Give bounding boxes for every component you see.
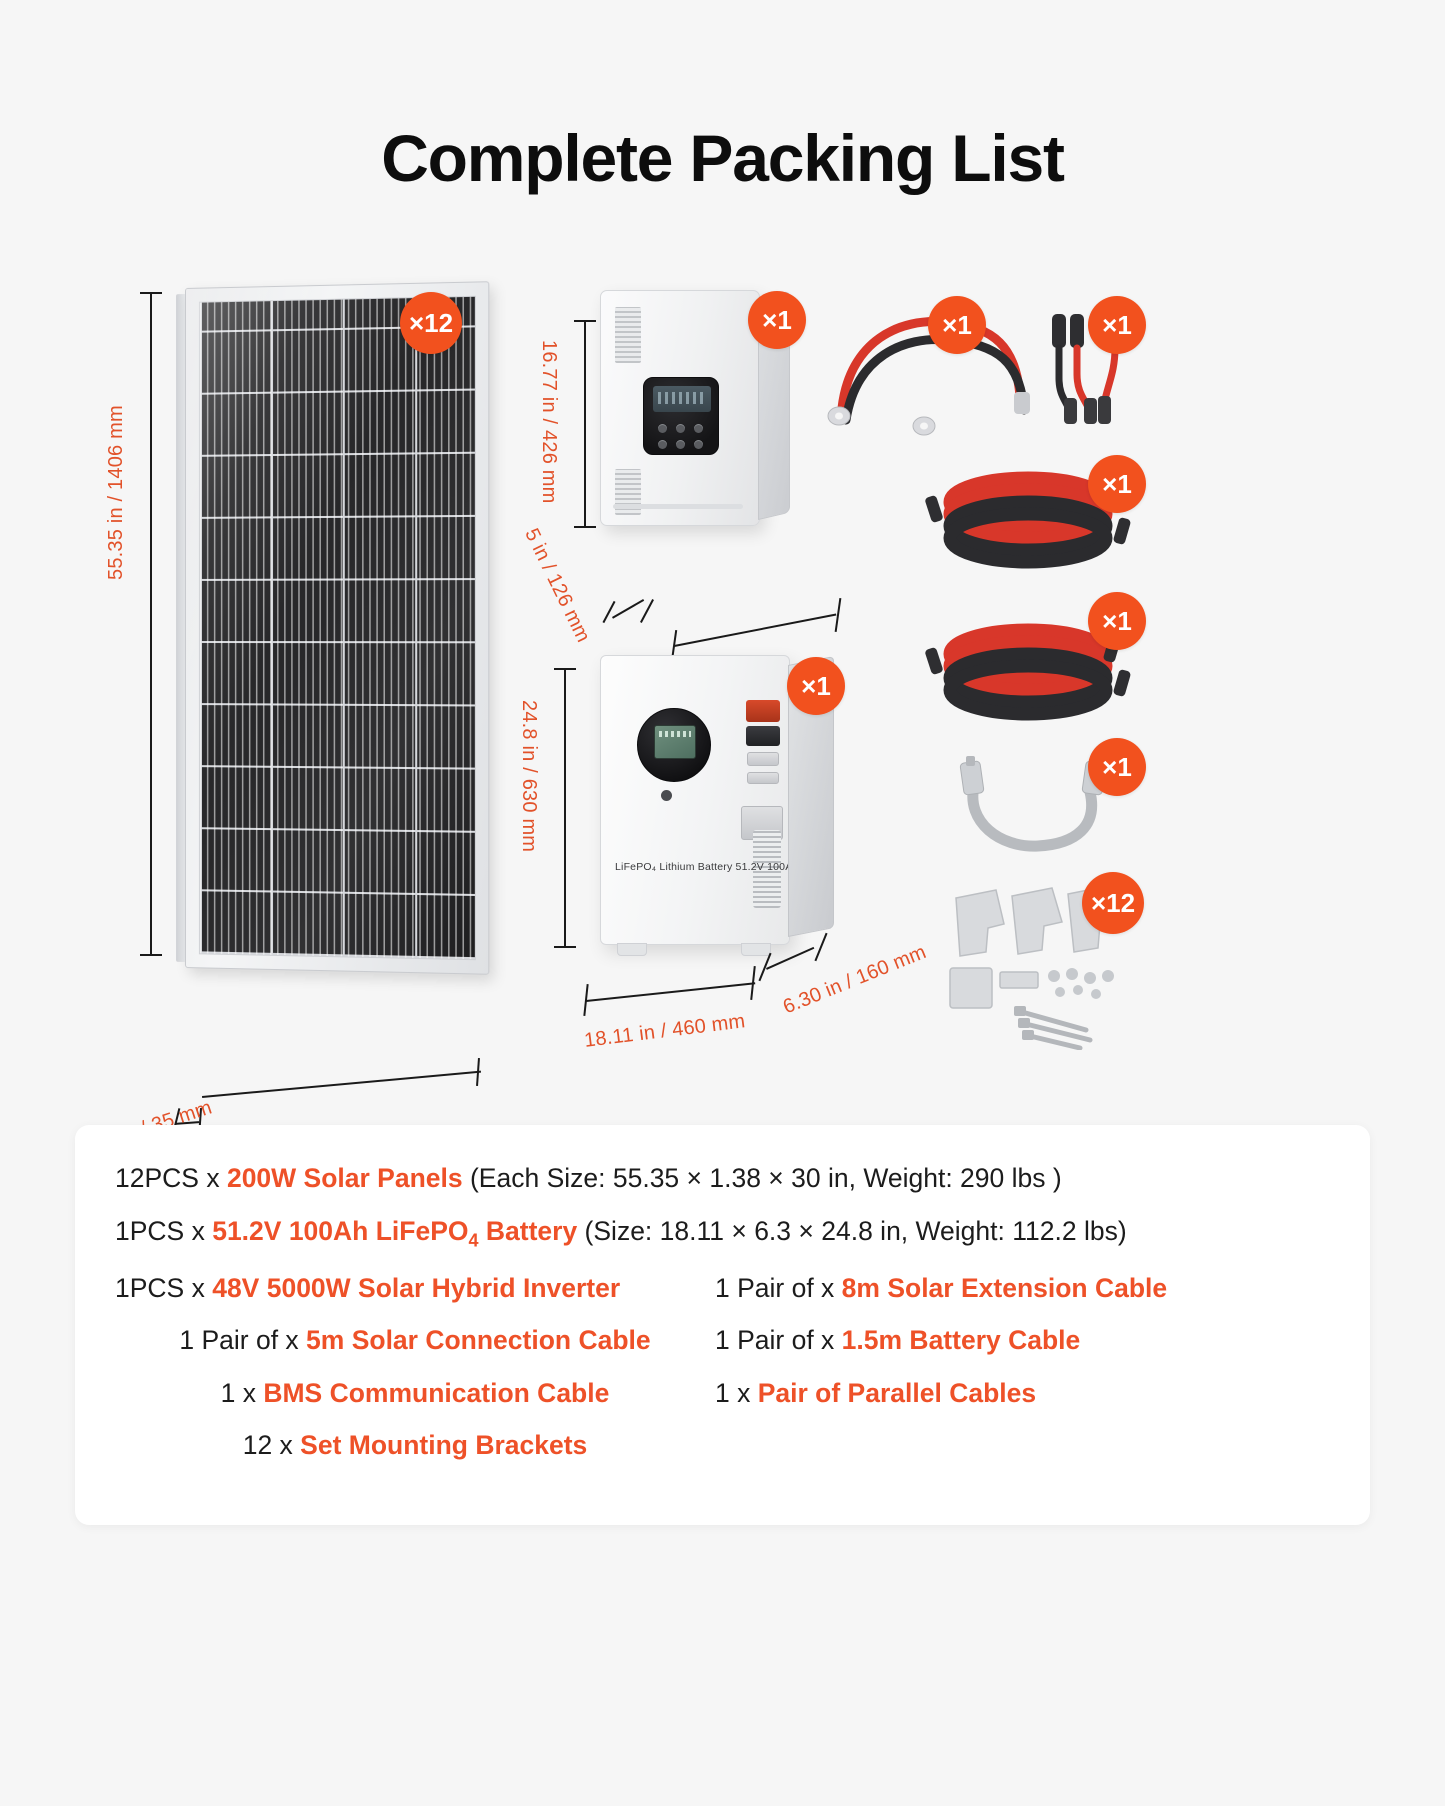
battery-cable-qty: 1 Pair of x <box>715 1325 842 1355</box>
battery-port-a <box>747 752 779 766</box>
panel-height-tick-bottom <box>140 954 162 956</box>
connection-cable-qty: 1 Pair of x <box>179 1325 306 1355</box>
inverter-height-tick-bottom <box>574 526 596 528</box>
badge-solar-panel: ×12 <box>400 292 462 354</box>
inverter-depth-dim-line <box>612 599 644 619</box>
battery-terminal-positive <box>746 700 780 722</box>
list-item-mounting-brackets: 12 x Set Mounting Brackets <box>115 1432 715 1459</box>
solar-panel-image <box>185 281 489 975</box>
inverter-height-tick-top <box>574 320 596 322</box>
list-item-parallel-cables: 1 x Pair of Parallel Cables <box>715 1380 1340 1407</box>
list-row-3: 1PCS x 48V 5000W Solar Hybrid Inverter 1… <box>115 1275 1340 1302</box>
battery-height-tick-bottom <box>554 946 576 948</box>
badge-extension-cable: ×1 <box>1088 455 1146 513</box>
list-item-connection-cable: 1 Pair of x 5m Solar Connection Cable <box>115 1327 715 1354</box>
inverter-name: 48V 5000W Solar Hybrid Inverter <box>212 1273 620 1303</box>
battery-name-a: 51.2V 100Ah LiFePO <box>212 1216 468 1246</box>
inverter-base-strip <box>613 504 743 509</box>
list-row-5: 1 x BMS Communication Cable 1 x Pair of … <box>115 1380 1340 1407</box>
battery-name-b: Battery <box>479 1216 578 1246</box>
panel-width-dim-line <box>202 1071 481 1098</box>
inverter-button-2 <box>676 424 685 433</box>
solar-panels-name: 200W Solar Panels <box>227 1163 463 1193</box>
badge-bms-cable: ×1 <box>1088 738 1146 796</box>
list-item-battery: 1PCS x 51.2V 100Ah LiFePO4 Battery (Size… <box>115 1218 1340 1249</box>
panel-height-tick-top <box>140 292 162 294</box>
battery-display <box>637 708 711 782</box>
solar-panel-cells <box>199 296 476 960</box>
battery-body: LiFePO₄ Lithium Battery 51.2V 100Ah <box>600 655 790 945</box>
extension-cable-name: 8m Solar Extension Cable <box>842 1273 1167 1303</box>
battery-name-sub: 4 <box>468 1230 478 1250</box>
list-item-bms-cable: 1 x BMS Communication Cable <box>115 1380 715 1407</box>
inverter-button-1 <box>658 424 667 433</box>
battery-width-label: 18.11 in / 460 mm <box>583 1010 747 1053</box>
battery-leg-left <box>617 943 647 956</box>
inverter-display <box>643 377 719 455</box>
packing-list-page: Complete Packing List ×12 55.35 in / 140… <box>0 0 1445 1806</box>
solar-panels-spec: (Each Size: 55.35 × 1.38 × 30 in, Weight… <box>463 1163 1062 1193</box>
inverter-lcd <box>653 386 711 412</box>
inverter-button-6 <box>694 440 703 449</box>
inverter-vent-top <box>615 307 641 363</box>
panel-height-label: 55.35 in / 1406 mm <box>105 405 128 580</box>
badge-battery-cable: ×1 <box>928 296 986 354</box>
extension-cable-qty: 1 Pair of x <box>715 1273 842 1303</box>
packing-list-card: 12PCS x 200W Solar Panels (Each Size: 55… <box>75 1125 1370 1525</box>
parallel-cables-qty: 1 x <box>715 1378 758 1408</box>
bms-cable-qty: 1 x <box>221 1378 264 1408</box>
badge-connection-cable: ×1 <box>1088 592 1146 650</box>
inverter-depth-tick-b <box>640 599 654 623</box>
inverter-body <box>600 290 760 526</box>
inverter-height-dim-line <box>584 320 586 528</box>
battery-width-dim-line <box>586 982 755 1002</box>
mounting-brackets-name: Set Mounting Brackets <box>300 1430 587 1460</box>
parallel-cables-name: Pair of Parallel Cables <box>758 1378 1036 1408</box>
battery-spec: (Size: 18.11 × 6.3 × 24.8 in, Weight: 11… <box>577 1216 1126 1246</box>
inverter-height-label: 16.77 in / 426 mm <box>537 340 560 504</box>
battery-cable-name: 1.5m Battery Cable <box>842 1325 1081 1355</box>
list-row-6: 12 x Set Mounting Brackets <box>115 1432 1340 1459</box>
panel-height-dim-line <box>150 292 152 956</box>
battery-product-label: LiFePO₄ Lithium Battery 51.2V 100Ah <box>615 861 798 873</box>
list-item-extension-cable: 1 Pair of x 8m Solar Extension Cable <box>715 1275 1340 1302</box>
list-item-solar-panels: 12PCS x 200W Solar Panels (Each Size: 55… <box>115 1165 1340 1192</box>
bms-cable-name: BMS Communication Cable <box>263 1378 609 1408</box>
list-item-inverter: 1PCS x 48V 5000W Solar Hybrid Inverter <box>115 1275 715 1302</box>
battery-height-label: 24.8 in / 630 mm <box>517 700 540 852</box>
battery-height-dim-line <box>564 668 566 948</box>
inverter-qty: 1PCS x <box>115 1273 212 1303</box>
inverter-button-3 <box>694 424 703 433</box>
inverter-depth-tick-a <box>602 601 615 623</box>
battery-terminal-negative <box>746 726 780 746</box>
battery-qty: 1PCS x <box>115 1216 212 1246</box>
list-item-battery-cable: 1 Pair of x 1.5m Battery Cable <box>715 1327 1340 1354</box>
mounting-brackets-qty: 12 x <box>243 1430 300 1460</box>
list-row-4: 1 Pair of x 5m Solar Connection Cable 1 … <box>115 1327 1340 1354</box>
badge-battery: ×1 <box>787 657 845 715</box>
battery-height-tick-top <box>554 668 576 670</box>
badge-inverter: ×1 <box>748 291 806 349</box>
inverter-depth-label: 5 in / 126 mm <box>519 525 594 646</box>
inverter-button-4 <box>658 440 667 449</box>
inverter-button-5 <box>676 440 685 449</box>
battery-port-b <box>747 772 779 784</box>
solar-panels-qty: 12PCS x <box>115 1163 227 1193</box>
inverter-width-dim-line <box>674 614 836 647</box>
connection-cable-name: 5m Solar Connection Cable <box>306 1325 651 1355</box>
page-title: Complete Packing List <box>0 120 1445 196</box>
packing-list-items: 12PCS x 200W Solar Panels (Each Size: 55… <box>115 1165 1340 1485</box>
battery-knob <box>661 790 672 801</box>
badge-parallel-cables: ×1 <box>1088 296 1146 354</box>
battery-lcd <box>654 725 696 759</box>
battery-leg-right <box>741 943 771 956</box>
solar-panel-frame <box>185 281 489 975</box>
badge-mounting-brackets: ×12 <box>1082 872 1144 934</box>
